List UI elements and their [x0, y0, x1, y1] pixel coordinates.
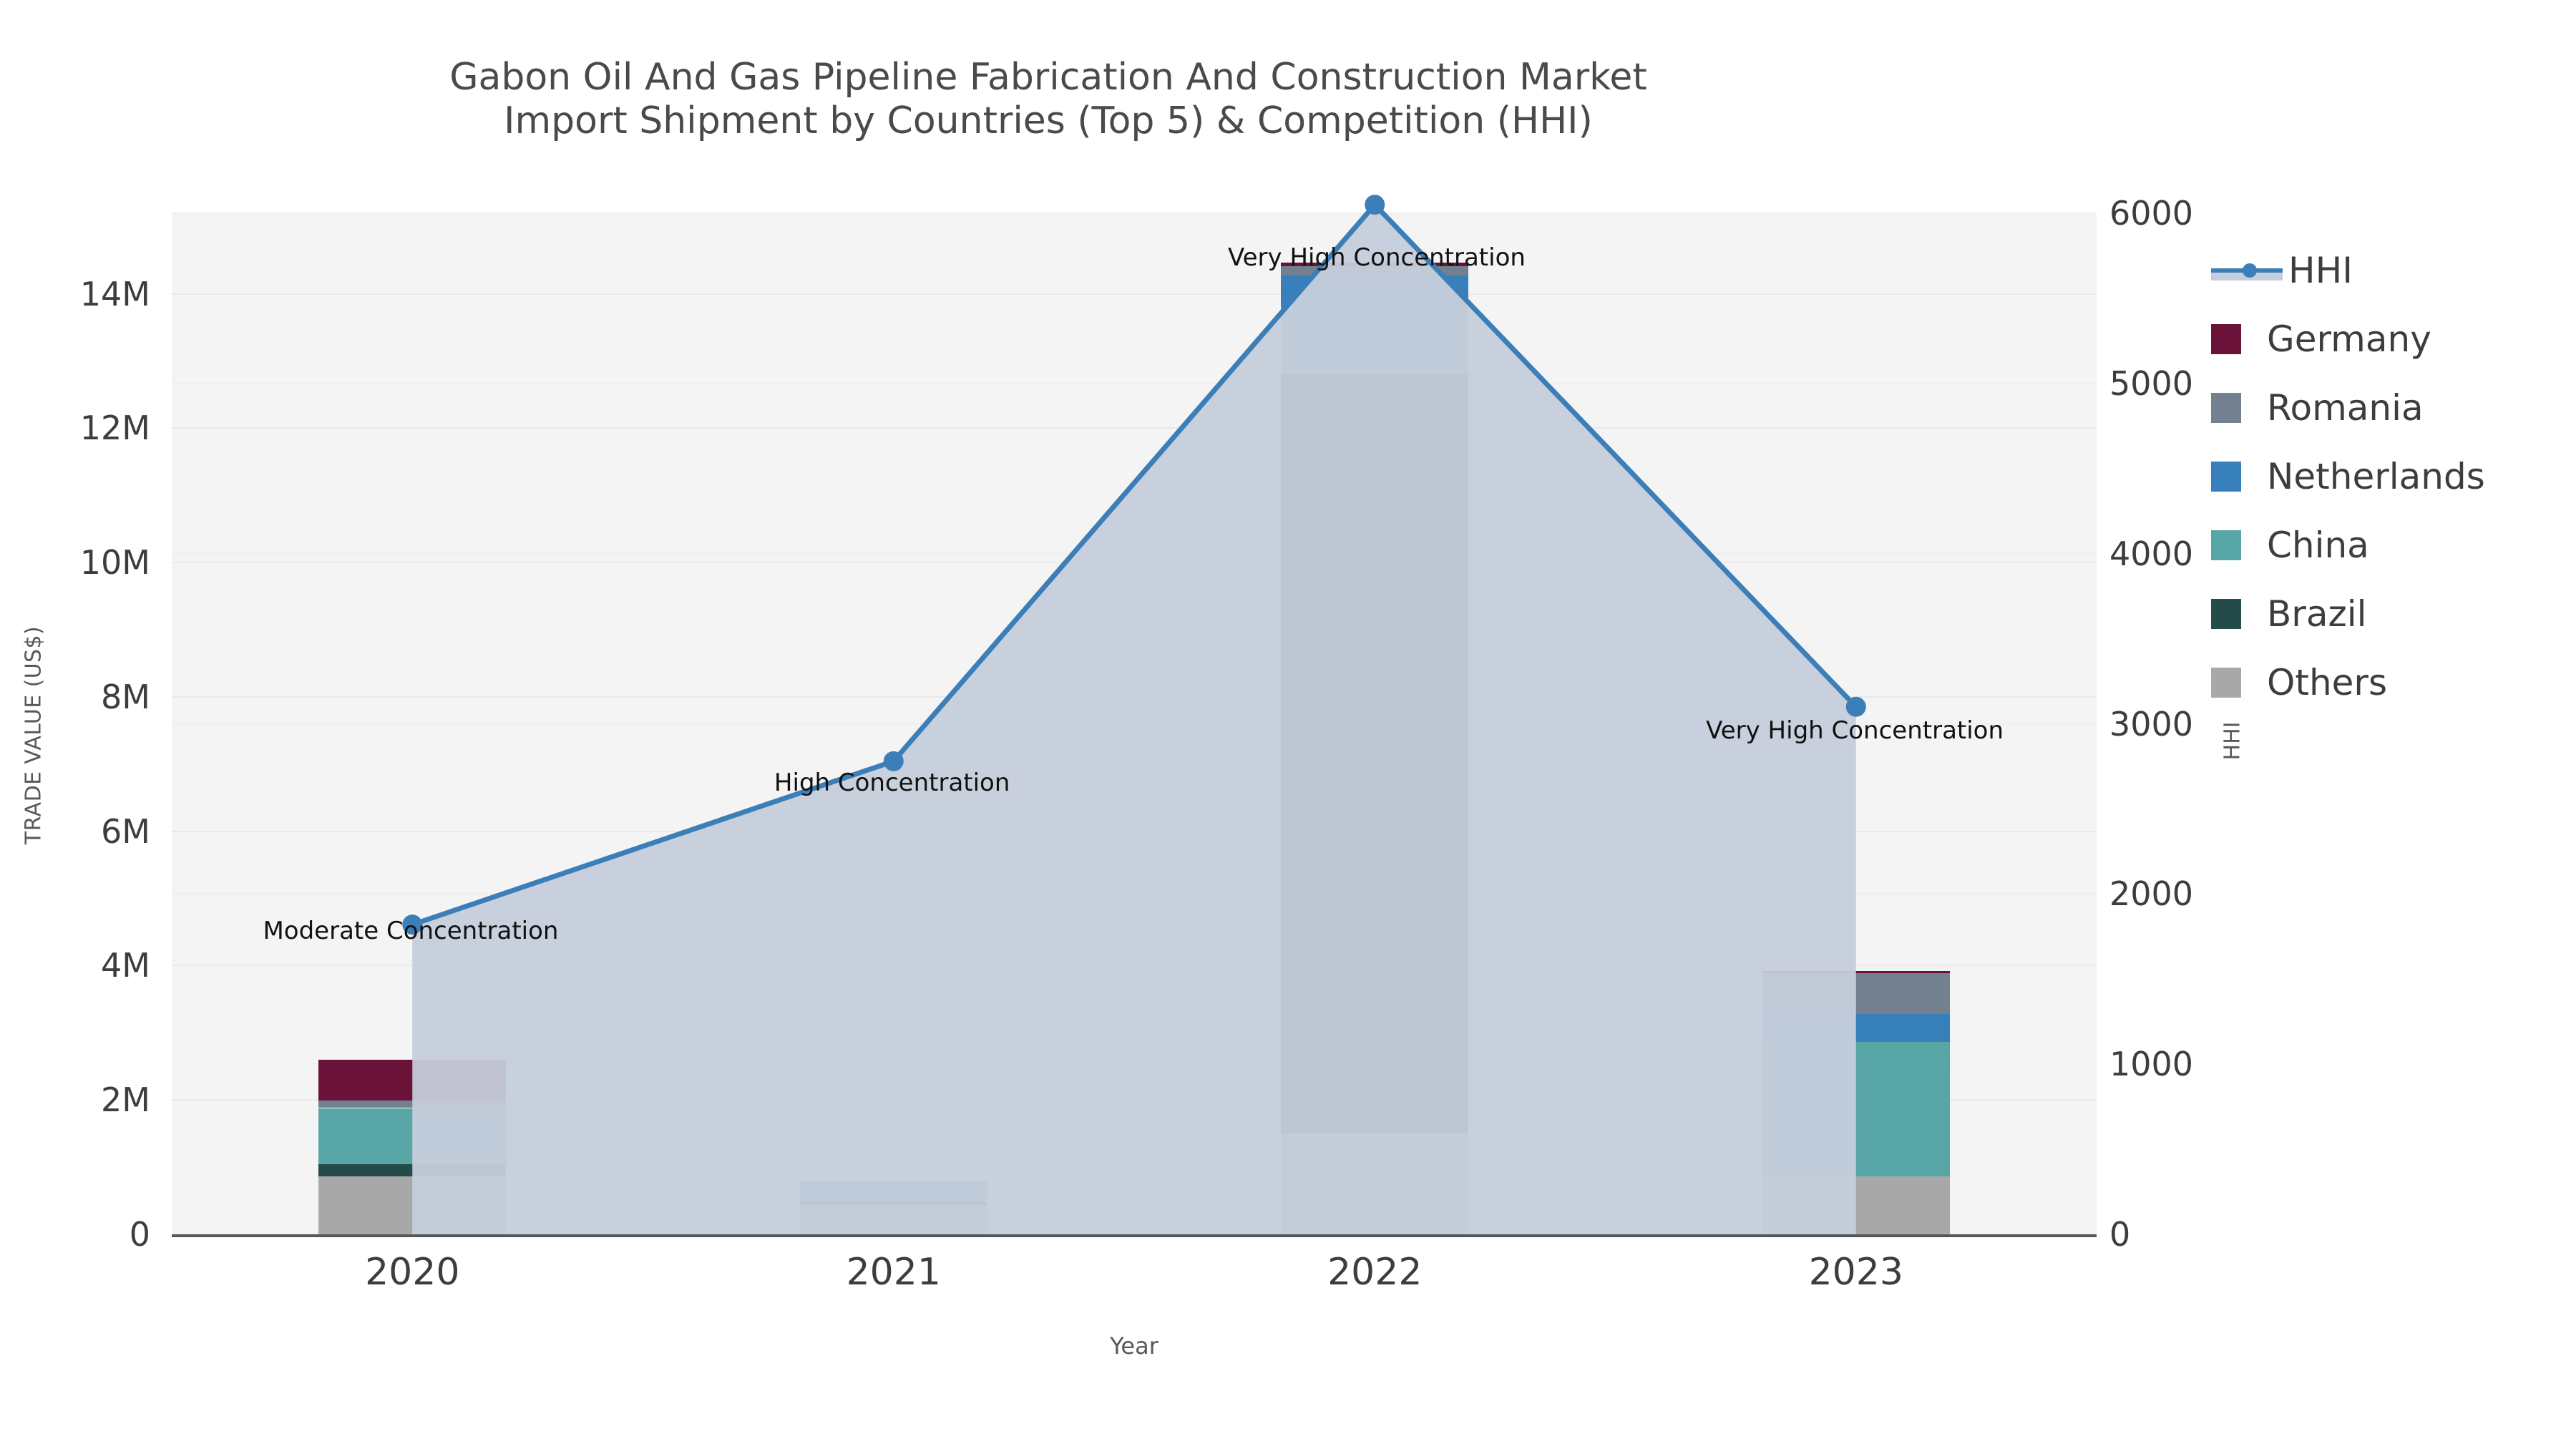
y-left-tick-14M: 14M [21, 275, 150, 313]
y-right-tick-4000: 4000 [2109, 535, 2193, 573]
hhi-point-2022[interactable] [1365, 195, 1385, 215]
legend-item-china[interactable]: China [2211, 511, 2569, 580]
y-left-tick-10M: 10M [21, 543, 150, 582]
gridline-minor [172, 383, 2097, 384]
legend-label-germany: Germany [2267, 318, 2431, 360]
x-tick-2022: 2022 [1327, 1251, 1422, 1294]
bar-segment-china-2022[interactable] [1281, 307, 1468, 374]
legend-label-netherlands: Netherlands [2267, 456, 2485, 497]
legend-item-germany[interactable]: Germany [2211, 305, 2569, 374]
bar-segment-germany-2023[interactable] [1762, 971, 1950, 973]
bar-segment-others-2023[interactable] [1762, 1176, 1950, 1234]
bar-segment-netherlands-2021[interactable] [800, 1181, 987, 1185]
legend: HHIGermanyRomaniaNetherlandsChinaBrazilO… [2211, 236, 2569, 717]
x-tick-2023: 2023 [1809, 1251, 1903, 1294]
bar-segment-others-2021[interactable] [800, 1205, 987, 1234]
bar-segment-brazil-2020[interactable] [318, 1164, 506, 1176]
legend-label-others: Others [2267, 662, 2387, 703]
legend-item-others[interactable]: Others [2211, 648, 2569, 717]
y-right-tick-0: 0 [2109, 1215, 2130, 1254]
legend-line-key-icon [2211, 255, 2283, 286]
y-axis-left-title: TRADE VALUE (US$) [21, 618, 47, 854]
gridline-major [172, 293, 2097, 295]
x-tick-2021: 2021 [847, 1251, 941, 1294]
bar-segment-romania-2020[interactable] [318, 1101, 506, 1108]
legend-label-romania: Romania [2267, 387, 2424, 429]
legend-item-hhi[interactable]: HHI [2211, 236, 2569, 305]
y-right-tick-2000: 2000 [2109, 874, 2193, 913]
hhi-annotation-2020: Moderate Concentration [263, 917, 558, 945]
legend-label-china: China [2267, 525, 2369, 566]
legend-swatch-brazil [2211, 599, 2241, 629]
gridline-major [172, 696, 2097, 698]
legend-item-netherlands[interactable]: Netherlands [2211, 442, 2569, 511]
gridline-major [172, 831, 2097, 832]
legend-swatch-china [2211, 530, 2241, 560]
gridline-major [172, 562, 2097, 563]
chart-root: Gabon Oil And Gas Pipeline Fabrication A… [0, 0, 2576, 1449]
bar-segment-netherlands-2023[interactable] [1762, 1014, 1950, 1042]
bar-segment-china-2020[interactable] [318, 1108, 506, 1165]
bar-segment-others-2022[interactable] [1281, 1133, 1468, 1234]
legend-swatch-netherlands [2211, 462, 2241, 492]
y-right-tick-1000: 1000 [2109, 1045, 2193, 1083]
bar-segment-netherlands-2022[interactable] [1281, 275, 1468, 307]
x-axis-title: Year [172, 1332, 2097, 1360]
hhi-annotation-2023: Very High Concentration [1706, 716, 2004, 745]
gridline-minor [172, 553, 2097, 555]
legend-item-romania[interactable]: Romania [2211, 374, 2569, 442]
hhi-annotation-2022: Very High Concentration [1228, 243, 1526, 272]
legend-label-hhi: HHI [2288, 250, 2353, 291]
gridline-minor [172, 893, 2097, 894]
y-right-tick-6000: 6000 [2109, 194, 2193, 233]
bar-segment-romania-2023[interactable] [1762, 973, 1950, 1014]
y-right-tick-5000: 5000 [2109, 364, 2193, 403]
legend-swatch-germany [2211, 324, 2241, 354]
y-left-tick-2M: 2M [21, 1080, 150, 1119]
chart-title-line-2: Import Shipment by Countries (Top 5) & C… [0, 99, 2097, 143]
legend-swatch-others [2211, 668, 2241, 698]
legend-label-brazil: Brazil [2267, 593, 2367, 635]
bar-segment-china-2023[interactable] [1762, 1042, 1950, 1176]
bar-segment-others-2020[interactable] [318, 1176, 506, 1234]
y-left-tick-4M: 4M [21, 946, 150, 985]
bar-segment-brazil-2022[interactable] [1281, 374, 1468, 1133]
bar-segment-brazil-2021[interactable] [800, 1201, 987, 1205]
hhi-annotation-2021: High Concentration [774, 769, 1010, 797]
legend-item-brazil[interactable]: Brazil [2211, 580, 2569, 648]
x-axis-line [172, 1234, 2097, 1237]
bar-segment-germany-2020[interactable] [318, 1060, 506, 1101]
legend-swatch-romania [2211, 393, 2241, 423]
gridline-major [172, 427, 2097, 429]
chart-title: Gabon Oil And Gas Pipeline Fabrication A… [0, 56, 2097, 144]
y-left-tick-12M: 12M [21, 409, 150, 447]
gridline-major [172, 965, 2097, 966]
x-tick-2020: 2020 [365, 1251, 459, 1294]
y-right-tick-3000: 3000 [2109, 705, 2193, 743]
chart-title-line-1: Gabon Oil And Gas Pipeline Fabrication A… [0, 56, 2097, 99]
y-left-tick-0: 0 [21, 1215, 150, 1254]
gridline-minor [172, 213, 2097, 214]
bar-segment-china-2021[interactable] [800, 1185, 987, 1201]
